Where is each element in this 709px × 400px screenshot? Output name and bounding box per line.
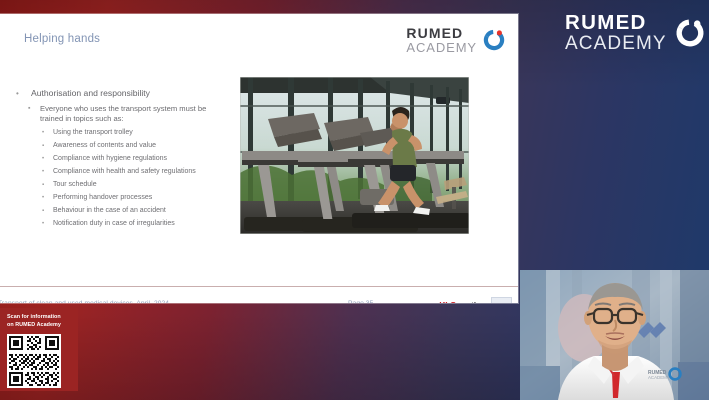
bullet-marker: • [42, 129, 53, 138]
footer-document-title: Transport of clean and used medical devi… [0, 300, 169, 303]
bullet-text: Compliance with hygiene regulations [53, 155, 167, 164]
slide-photo-gym [240, 77, 469, 234]
bullet-text: Authorisation and responsibility [31, 88, 150, 99]
presenter-webcam-video[interactable]: RUMED ACADEMY [520, 270, 709, 400]
list-item: • Performing handover processes [16, 194, 231, 203]
bullet-text: Using the transport trolley [53, 129, 133, 138]
svg-text:ACADEMY: ACADEMY [648, 375, 670, 380]
qr-caption: Scan for information on RUMED Academy [7, 314, 72, 330]
list-item: ▪ Behaviour in the case of an accident [16, 207, 231, 216]
slide-brand-logo: RUMED ACADEMY [406, 26, 506, 54]
kls-word: KLS [439, 300, 456, 303]
presentation-screen: RUMED ACADEMY Helping hands RUMED ACADEM… [0, 0, 709, 400]
slide: Helping hands RUMED ACADEMY • Authorisat… [0, 14, 518, 303]
footer-page-number: Page 35 [348, 300, 373, 303]
bullet-text: Behaviour in the case of an accident [53, 207, 166, 216]
bullet-marker: ▪ [42, 142, 53, 151]
partner-secondary-logo-icon [491, 297, 512, 303]
footer-divider [0, 286, 518, 287]
list-item: • Authorisation and responsibility [16, 88, 231, 99]
bullet-marker: • [42, 168, 53, 177]
list-item: ▪ Awareness of contents and value [16, 142, 231, 151]
qr-code-icon[interactable] [7, 334, 61, 388]
slide-bullet-list: • Authorisation and responsibility ▪ Eve… [16, 88, 231, 233]
header-brand-line1: RUMED [565, 13, 667, 34]
slide-brand-line1: RUMED [406, 26, 477, 40]
header-wordmark: RUMED ACADEMY [565, 13, 667, 54]
bullet-text: Performing handover processes [53, 194, 152, 203]
bullet-marker: ▪ [42, 181, 53, 190]
list-item: • Compliance with health and safety regu… [16, 168, 231, 177]
qr-panel[interactable]: Scan for information on RUMED Academy [0, 308, 78, 391]
bullet-marker: ▪ [28, 104, 40, 114]
list-item: ▪ Everyone who uses the transport system… [16, 104, 231, 123]
slide-wordmark: RUMED ACADEMY [406, 26, 477, 54]
header-brand-line2: ACADEMY [565, 34, 667, 53]
kls-martin-wordmark: KLSmartin [439, 301, 481, 303]
bullet-marker: • [42, 155, 53, 164]
header-brand-logo: RUMED ACADEMY [565, 10, 703, 56]
bullet-marker: • [42, 194, 53, 203]
bullet-text: Notification duty in case of irregularit… [53, 220, 175, 229]
kls-martin-logo: KLSmartin GROUP [439, 301, 481, 303]
bullet-text: Compliance with health and safety regula… [53, 168, 196, 177]
list-item: • Notification duty in case of irregular… [16, 220, 231, 229]
bullet-marker: • [42, 220, 53, 229]
bullet-text: Everyone who uses the transport system m… [40, 104, 231, 123]
list-item: • Compliance with hygiene regulations [16, 155, 231, 164]
rumed-ring-icon [674, 17, 706, 49]
bullet-text: Awareness of contents and value [53, 142, 156, 151]
qr-caption-line1: Scan for information [7, 314, 61, 320]
list-item: • Using the transport trolley [16, 129, 231, 138]
bullet-text: Tour schedule [53, 181, 97, 190]
slide-title: Helping hands [24, 33, 100, 45]
qr-caption-line2: on RUMED Academy [7, 322, 61, 328]
rumed-ring-icon [482, 28, 506, 52]
bullet-marker: • [16, 88, 31, 99]
slide-brand-line2: ACADEMY [406, 41, 477, 54]
footer-partner-logos: supported by KLSmartin GROUP + [394, 297, 512, 303]
bullet-marker: ▪ [42, 207, 53, 216]
martin-word: martin [456, 300, 481, 303]
list-item: ▪ Tour schedule [16, 181, 231, 190]
